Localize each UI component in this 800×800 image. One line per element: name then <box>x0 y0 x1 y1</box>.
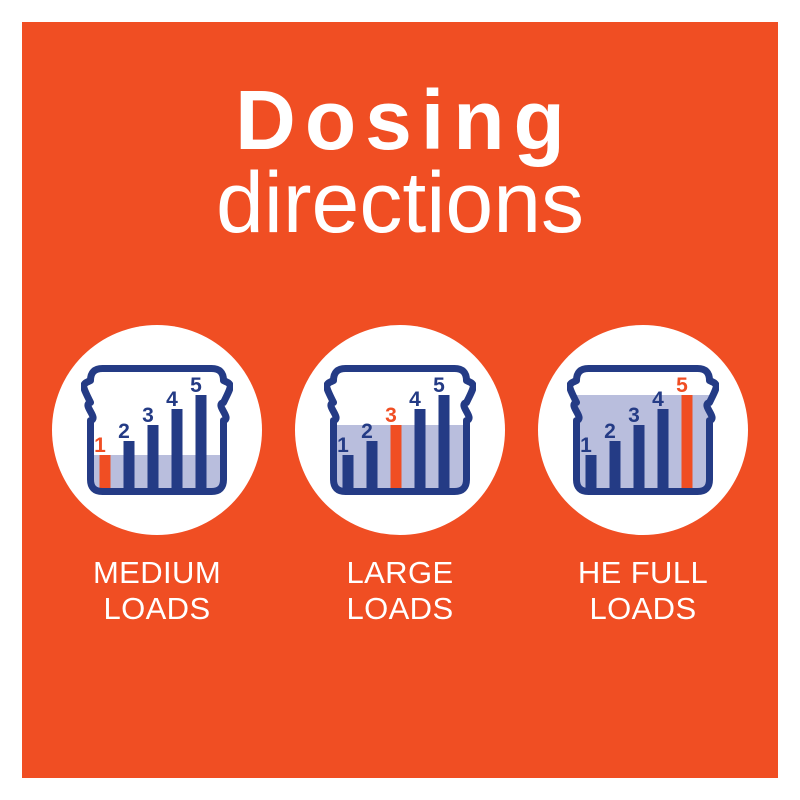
graduation-bar-5 <box>196 395 207 494</box>
graduation-bar-4 <box>658 409 669 494</box>
graduation-label-2: 2 <box>118 420 130 443</box>
graduation-bar-1 <box>586 455 597 494</box>
title-sub: directions <box>22 160 778 248</box>
graduation-label-3: 3 <box>385 404 397 427</box>
graduation-label-4: 4 <box>652 388 664 411</box>
graduation-label-2: 2 <box>604 420 616 443</box>
card-label: HE FULL LOADS <box>578 555 708 627</box>
graduation-label-5: 5 <box>190 374 202 397</box>
card-label: LARGE LOADS <box>346 555 453 627</box>
measuring-cup-icon: 12345 <box>324 359 476 501</box>
dosing-cards-row: 12345 MEDIUM LOADS 12345 LARGE LOADS 123… <box>22 325 778 627</box>
poster-panel: Dosing directions 12345 MEDIUM LOADS 123… <box>22 22 778 778</box>
graduation-label-4: 4 <box>166 388 178 411</box>
graduation-label-1: 1 <box>94 434 106 457</box>
dosing-card-large-loads[interactable]: 12345 LARGE LOADS <box>293 325 507 627</box>
graduation-bar-2 <box>124 441 135 494</box>
graduation-label-3: 3 <box>142 404 154 427</box>
graduation-bar-1 <box>343 455 354 494</box>
card-label: MEDIUM LOADS <box>93 555 221 627</box>
cup-disc: 12345 <box>52 325 262 535</box>
graduation-bar-1 <box>100 455 111 494</box>
cup-disc: 12345 <box>295 325 505 535</box>
graduation-label-1: 1 <box>337 434 349 457</box>
dosing-card-he-full-loads[interactable]: 12345 HE FULL LOADS <box>536 325 750 627</box>
dosing-card-medium-loads[interactable]: 12345 MEDIUM LOADS <box>50 325 264 627</box>
graduation-bar-5 <box>682 395 693 494</box>
graduation-bar-4 <box>172 409 183 494</box>
graduation-bar-3 <box>148 425 159 494</box>
graduation-bar-3 <box>634 425 645 494</box>
graduation-label-2: 2 <box>361 420 373 443</box>
title-main: Dosing <box>31 78 778 164</box>
graduation-bar-2 <box>610 441 621 494</box>
graduation-bar-4 <box>415 409 426 494</box>
graduation-bar-5 <box>439 395 450 494</box>
graduation-label-5: 5 <box>676 374 688 397</box>
measuring-cup-icon: 12345 <box>567 359 719 501</box>
graduation-bar-3 <box>391 425 402 494</box>
cup-disc: 12345 <box>538 325 748 535</box>
measuring-cup-icon: 12345 <box>81 359 233 501</box>
graduation-label-3: 3 <box>628 404 640 427</box>
graduation-label-4: 4 <box>409 388 421 411</box>
graduation-bar-2 <box>367 441 378 494</box>
graduation-label-5: 5 <box>433 374 445 397</box>
page-title: Dosing directions <box>22 78 778 247</box>
graduation-label-1: 1 <box>580 434 592 457</box>
